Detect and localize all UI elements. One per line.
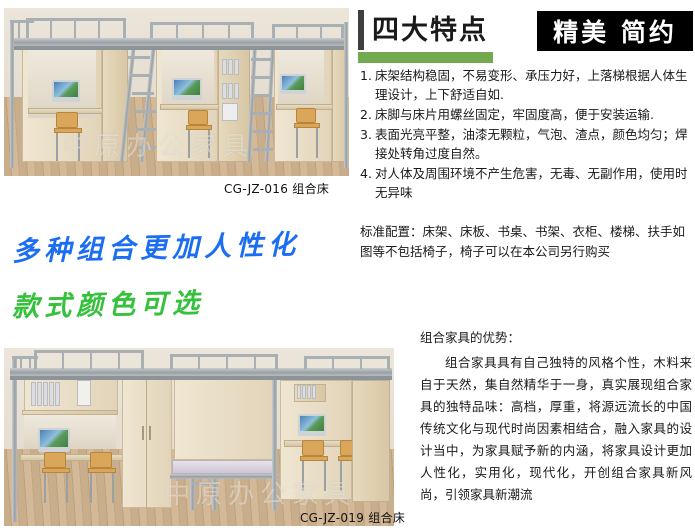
- feature-text: 床架结构稳固，不易变形、承压力好，上落梯根据人体生理设计，上下舒适自如.: [375, 66, 695, 104]
- ladder-step: [252, 94, 272, 97]
- book: [222, 103, 238, 121]
- guard-rail-top: [304, 356, 390, 359]
- guard-rail-top: [34, 350, 144, 353]
- guard-rail-post: [272, 24, 275, 38]
- product-photo-top: 中原办公家具: [4, 8, 349, 176]
- guard-rail-post: [150, 22, 153, 38]
- chair-back: [44, 452, 66, 468]
- ladder-step: [134, 110, 156, 113]
- book: [222, 59, 227, 75]
- wardrobe-panel: [122, 378, 172, 508]
- guard-rail-post: [254, 356, 256, 369]
- caption-top-photo: CG-JZ-016 组合床: [224, 180, 329, 197]
- bunk-backboard: [174, 378, 274, 460]
- guard-rail-post: [275, 354, 278, 369]
- picture-frame: [77, 380, 91, 406]
- book: [307, 385, 311, 399]
- slogan-color-options: 款式颜色可选: [12, 281, 205, 324]
- headboard-bar: [26, 22, 28, 38]
- headboard-rail: [10, 20, 34, 23]
- book: [43, 382, 48, 406]
- feature-item: 1. 床架结构稳固，不易变形、承压力好，上落梯根据人体生理设计，上下舒适自如.: [360, 66, 695, 104]
- article-body: 组合家具具有自己独特的风格个性，木料来自于天然，集自然精华于一身，真实展现组合家…: [420, 352, 692, 506]
- feature-text: 床脚与床片用螺丝固定，牢固度高，便于安装运输.: [375, 105, 695, 124]
- feature-number: 2.: [360, 105, 375, 124]
- feature-item: 3. 表面光亮平整，油漆无颗粒，气泡、渣点，颜色均匀；焊接处转角过度自然。: [360, 125, 695, 163]
- guard-rail-post: [118, 352, 120, 369]
- chair-leg: [188, 130, 190, 158]
- mattress: [172, 460, 276, 474]
- book: [37, 382, 42, 406]
- ladder-step: [251, 58, 271, 61]
- chair-leg: [66, 473, 68, 503]
- guard-rail-post: [320, 26, 322, 38]
- ladder-step: [192, 482, 215, 485]
- guard-rail-post: [304, 356, 307, 369]
- guard-rail-post: [198, 356, 200, 369]
- guard-rail-post: [170, 354, 173, 369]
- product-photo-bottom: 中原办公家具: [4, 348, 394, 526]
- chair-leg: [44, 473, 46, 503]
- book: [297, 385, 301, 399]
- bookshelf: [218, 44, 250, 162]
- chair-back: [296, 108, 316, 123]
- wardrobe-handle: [142, 426, 144, 440]
- monitor: [280, 74, 306, 94]
- guard-rail-post: [90, 352, 92, 369]
- guard-rail-post: [387, 356, 390, 369]
- bed-deck-edge: [10, 376, 392, 380]
- bookshelf: [294, 384, 326, 402]
- feature-item: 4. 对人体及周围环境不产生危害，无毒、无副作用，使用时无异味: [360, 164, 695, 202]
- bookshelf: [24, 376, 118, 412]
- title-accent-bar: [358, 10, 364, 50]
- bed-deck-edge: [12, 46, 348, 50]
- chair-leg: [316, 128, 318, 158]
- guard-rail-post: [202, 24, 204, 38]
- bed-deck: [12, 38, 348, 46]
- guard-rail-post: [251, 22, 254, 38]
- book: [312, 385, 316, 399]
- chair-leg: [324, 461, 326, 491]
- caption-bottom-photo: CG-JZ-019 组合床: [300, 509, 405, 526]
- bed-deck: [10, 368, 392, 376]
- monitor-screen: [282, 76, 304, 90]
- chair-leg: [208, 130, 210, 158]
- guard-rail-post: [176, 24, 178, 38]
- headboard-bar: [18, 22, 20, 38]
- feature-list: 1. 床架结构稳固，不易变形、承压力好，上落梯根据人体生理设计，上下舒适自如. …: [360, 66, 695, 203]
- monitor: [52, 80, 80, 102]
- bed-frame-rail: [170, 474, 278, 479]
- guard-rail-post: [123, 18, 126, 38]
- chair-leg: [90, 473, 92, 503]
- guard-rail-post: [74, 20, 76, 38]
- standard-configuration-note: 标准配置：床架、床板、书桌、书架、衣柜、楼梯、扶手如图等不包括椅子，椅子可以在本…: [360, 222, 694, 262]
- chair-leg: [78, 133, 80, 161]
- chair-leg: [56, 133, 58, 161]
- frame-post: [272, 376, 277, 510]
- feature-number: 4.: [360, 164, 375, 202]
- monitor: [38, 428, 70, 452]
- book: [31, 382, 36, 406]
- chair-leg: [340, 461, 342, 491]
- ladder-step: [128, 56, 150, 59]
- ladder-step: [136, 128, 158, 131]
- chair-leg: [302, 461, 304, 491]
- book: [49, 382, 54, 406]
- guard-rail-post: [62, 352, 64, 369]
- book: [228, 83, 233, 99]
- cabinet-door: [352, 380, 390, 502]
- quality-badge: 精美 简约: [537, 11, 693, 51]
- article-heading: 组合家具的优势：: [420, 327, 520, 346]
- frame-post: [12, 356, 17, 522]
- feature-item: 2. 床脚与床片用螺丝固定，牢固度高，便于安装运输.: [360, 105, 695, 124]
- guard-rail-top: [170, 354, 278, 357]
- monitor: [172, 78, 202, 100]
- guard-rail-post: [226, 356, 228, 369]
- frame-post: [344, 22, 348, 168]
- guard-rail-post: [50, 20, 52, 38]
- monitor-screen: [54, 82, 78, 97]
- guard-rail-post: [141, 350, 144, 369]
- book: [228, 59, 233, 75]
- monitor: [298, 414, 326, 436]
- monitor-screen: [40, 430, 68, 447]
- chair-leg: [112, 473, 114, 503]
- wardrobe-handle: [149, 426, 151, 440]
- guard-rail-top: [26, 18, 126, 21]
- ladder-step: [253, 130, 273, 133]
- feature-number: 1.: [360, 66, 375, 104]
- book: [302, 385, 306, 399]
- feature-text: 对人体及周围环境不产生危害，无毒、无副作用，使用时无异味: [375, 164, 695, 202]
- ladder-step: [253, 148, 273, 151]
- ladder-step: [252, 112, 272, 115]
- monitor-screen: [300, 416, 324, 431]
- book: [55, 382, 60, 406]
- chair-back: [90, 452, 112, 468]
- chair-back: [56, 112, 78, 128]
- ladder-step: [251, 76, 271, 79]
- wardrobe-seam: [146, 378, 147, 508]
- monitor-screen: [174, 80, 200, 95]
- guard-rail-top: [272, 24, 344, 27]
- guard-rail-post: [296, 26, 298, 38]
- title-underline-bar: [358, 52, 493, 63]
- guard-rail-post: [34, 350, 37, 369]
- chair-leg: [296, 128, 298, 158]
- guard-rail-post: [98, 20, 100, 38]
- slogan-combination: 多种组合更加人性化: [12, 222, 301, 268]
- guard-rail-post: [360, 358, 362, 369]
- guard-rail-post: [228, 24, 230, 38]
- feature-text: 表面光亮平整，油漆无颗粒，气泡、渣点，颜色均匀；焊接处转角过度自然。: [375, 125, 695, 163]
- book: [222, 83, 227, 99]
- chair-back: [302, 440, 324, 456]
- chair-back: [188, 110, 208, 125]
- section-title-block: 四大特点: [358, 10, 526, 58]
- page-title: 四大特点: [372, 8, 488, 47]
- guard-rail-post: [332, 358, 334, 369]
- frame-post: [10, 20, 14, 168]
- feature-number: 3.: [360, 125, 375, 163]
- ladder-step: [132, 92, 154, 95]
- book: [234, 59, 239, 75]
- ladder-step: [130, 74, 152, 77]
- book: [234, 83, 239, 99]
